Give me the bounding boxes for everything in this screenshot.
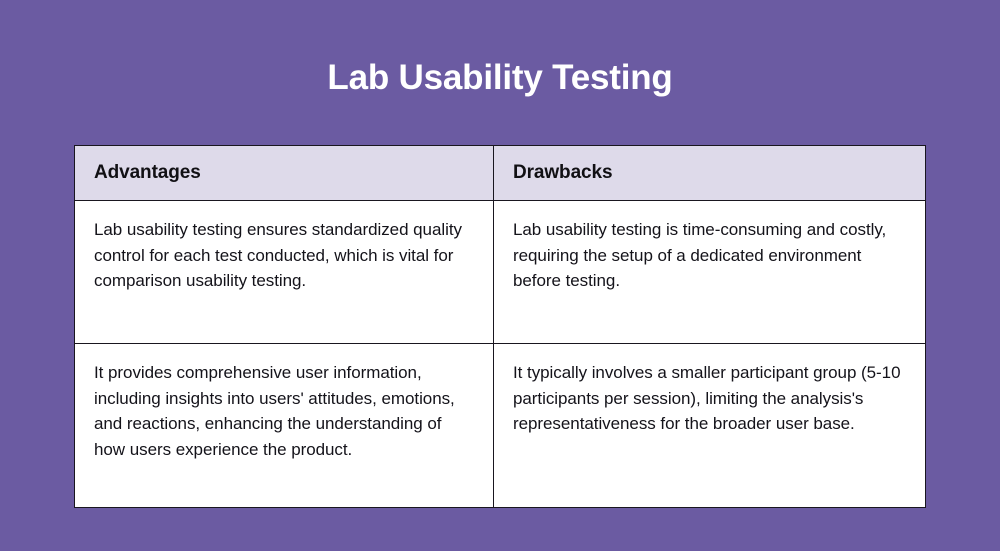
table-body: Lab usability testing ensures standardiz… bbox=[75, 201, 926, 508]
cell-drawbacks-2: It typically involves a smaller particip… bbox=[494, 344, 926, 508]
cell-drawbacks-1: Lab usability testing is time-consuming … bbox=[494, 201, 926, 344]
page-title: Lab Usability Testing bbox=[0, 56, 1000, 100]
table-row: It provides comprehensive user informati… bbox=[75, 344, 926, 508]
cell-advantages-2: It provides comprehensive user informati… bbox=[75, 344, 494, 508]
comparison-table: Advantages Drawbacks Lab usability testi… bbox=[74, 145, 926, 508]
table-header-row: Advantages Drawbacks bbox=[75, 146, 926, 201]
slide-canvas: Lab Usability Testing Advantages Drawbac… bbox=[0, 0, 1000, 551]
column-header-drawbacks: Drawbacks bbox=[494, 146, 926, 201]
comparison-table-container: Advantages Drawbacks Lab usability testi… bbox=[74, 145, 925, 508]
cell-advantages-1: Lab usability testing ensures standardiz… bbox=[75, 201, 494, 344]
table-header: Advantages Drawbacks bbox=[75, 146, 926, 201]
column-header-advantages: Advantages bbox=[75, 146, 494, 201]
table-row: Lab usability testing ensures standardiz… bbox=[75, 201, 926, 344]
